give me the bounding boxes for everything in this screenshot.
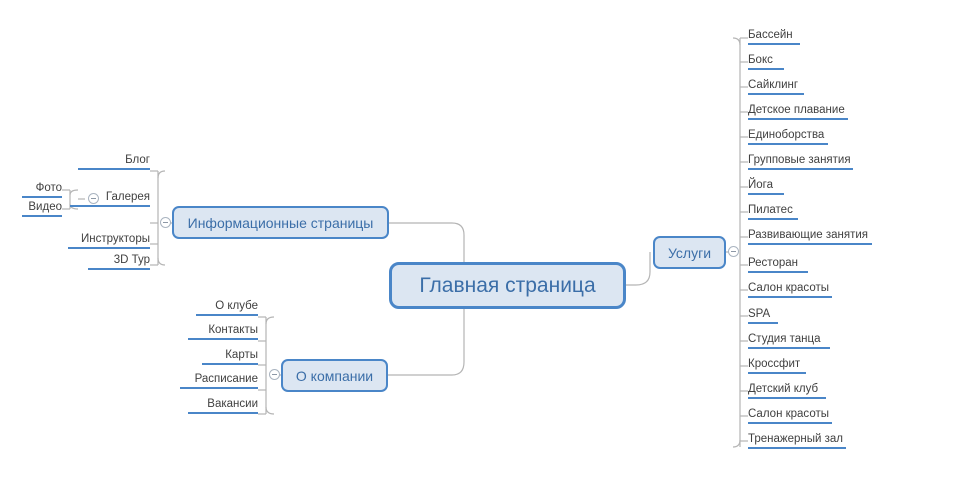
leaf-underline: [748, 43, 800, 45]
leaf-pilates-label: Пилатес: [748, 204, 793, 216]
leaf-maps[interactable]: Карты: [202, 348, 258, 365]
branch-node-services[interactable]: Услуги: [653, 236, 726, 269]
branch-node-info[interactable]: Информационные страницы: [172, 206, 389, 239]
leaf-underline: [180, 387, 258, 389]
leaf-underline: [748, 422, 832, 424]
leaf-maps-label: Карты: [225, 349, 258, 361]
leaf-underline: [202, 363, 258, 365]
leaf-underline: [748, 218, 798, 220]
branch-node-services-label: Услуги: [668, 245, 711, 261]
leaf-instructors-label: Инструкторы: [81, 233, 150, 245]
leaf-kids-swimming-label: Детское плавание: [748, 104, 845, 116]
leaf-about-club[interactable]: О клубе: [196, 299, 258, 316]
leaf-martial-arts-label: Единоборства: [748, 129, 824, 141]
leaf-video-label: Видео: [28, 201, 62, 213]
leaf-underline: [188, 338, 258, 340]
leaf-about-club-label: О клубе: [215, 300, 258, 312]
leaf-pool[interactable]: Бассейн: [748, 28, 800, 45]
leaf-underline: [748, 168, 853, 170]
leaf-spa[interactable]: SPA: [748, 307, 778, 324]
leaf-vacancies-label: Вакансии: [207, 398, 258, 410]
collapse-toggle-company[interactable]: [269, 369, 280, 380]
leaf-boxing-label: Бокс: [748, 54, 773, 66]
leaf-photo[interactable]: Фото: [22, 181, 62, 198]
leaf-underline: [748, 243, 872, 245]
leaf-underline: [22, 215, 62, 217]
leaf-beauty-salon-2-label: Салон красоты: [748, 408, 829, 420]
leaf-contacts[interactable]: Контакты: [188, 323, 258, 340]
leaf-restaurant[interactable]: Ресторан: [748, 256, 808, 273]
leaf-kids-swimming[interactable]: Детское плавание: [748, 103, 848, 120]
leaf-underline: [748, 193, 784, 195]
branch-node-company[interactable]: О компании: [281, 359, 388, 392]
leaf-beauty-salon-2[interactable]: Салон красоты: [748, 407, 832, 424]
leaf-cycling[interactable]: Сайклинг: [748, 78, 804, 95]
leaf-beauty-salon-1-label: Салон красоты: [748, 282, 829, 294]
leaf-underline: [88, 268, 150, 270]
leaf-underline: [196, 314, 258, 316]
leaf-dance-studio-label: Студия танца: [748, 333, 821, 345]
leaf-group-classes[interactable]: Групповые занятия: [748, 153, 853, 170]
leaf-video[interactable]: Видео: [22, 200, 62, 217]
leaf-boxing[interactable]: Бокс: [748, 53, 784, 70]
leaf-schedule[interactable]: Расписание: [180, 372, 258, 389]
leaf-gym-label: Тренажерный зал: [748, 433, 843, 445]
leaf-underline: [748, 93, 804, 95]
leaf-blog[interactable]: Блог: [78, 153, 150, 170]
leaf-underline: [78, 168, 150, 170]
leaf-underline: [748, 347, 830, 349]
leaf-gym[interactable]: Тренажерный зал: [748, 432, 846, 449]
leaf-crossfit-label: Кроссфит: [748, 358, 800, 370]
leaf-underline: [22, 196, 62, 198]
leaf-3d-tour-label: 3D Тур: [114, 254, 150, 266]
leaf-dance-studio[interactable]: Студия танца: [748, 332, 830, 349]
leaf-gallery-label: Галерея: [106, 191, 150, 203]
leaf-developmental-classes-label: Развивающие занятия: [748, 229, 868, 241]
leaf-underline: [70, 205, 150, 207]
root-node-label: Главная страница: [419, 274, 595, 298]
leaf-3d-tour[interactable]: 3D Тур: [88, 253, 150, 270]
leaf-cycling-label: Сайклинг: [748, 79, 798, 91]
leaf-restaurant-label: Ресторан: [748, 257, 798, 269]
leaf-underline: [68, 247, 150, 249]
mindmap-canvas: Главная страница Информационные страницы…: [0, 0, 972, 499]
leaf-spa-label: SPA: [748, 308, 770, 320]
leaf-underline: [748, 372, 806, 374]
leaf-underline: [748, 296, 832, 298]
leaf-blog-label: Блог: [125, 154, 150, 166]
leaf-underline: [748, 322, 778, 324]
leaf-underline: [748, 271, 808, 273]
leaf-underline: [748, 68, 784, 70]
leaf-martial-arts[interactable]: Единоборства: [748, 128, 828, 145]
leaf-instructors[interactable]: Инструкторы: [68, 232, 150, 249]
leaf-schedule-label: Расписание: [195, 373, 258, 385]
leaf-group-classes-label: Групповые занятия: [748, 154, 851, 166]
leaf-pool-label: Бассейн: [748, 29, 793, 41]
leaf-pilates[interactable]: Пилатес: [748, 203, 798, 220]
branch-node-info-label: Информационные страницы: [188, 215, 374, 231]
leaf-underline: [748, 143, 828, 145]
leaf-beauty-salon-1[interactable]: Салон красоты: [748, 281, 832, 298]
leaf-contacts-label: Контакты: [208, 324, 258, 336]
leaf-yoga[interactable]: Йога: [748, 178, 784, 195]
connector-lines: [0, 0, 972, 499]
collapse-toggle-services[interactable]: [728, 246, 739, 257]
leaf-vacancies[interactable]: Вакансии: [188, 397, 258, 414]
leaf-kids-club-label: Детский клуб: [748, 383, 818, 395]
leaf-crossfit[interactable]: Кроссфит: [748, 357, 806, 374]
leaf-developmental-classes[interactable]: Развивающие занятия: [748, 228, 872, 245]
leaf-yoga-label: Йога: [748, 179, 773, 191]
root-node[interactable]: Главная страница: [389, 262, 626, 309]
leaf-underline: [748, 447, 846, 449]
leaf-underline: [748, 397, 826, 399]
leaf-underline: [748, 118, 848, 120]
leaf-underline: [188, 412, 258, 414]
leaf-gallery[interactable]: Галерея: [70, 190, 150, 207]
leaf-photo-label: Фото: [36, 182, 62, 194]
leaf-kids-club[interactable]: Детский клуб: [748, 382, 826, 399]
collapse-toggle-info[interactable]: [160, 217, 171, 228]
branch-node-company-label: О компании: [296, 368, 373, 384]
